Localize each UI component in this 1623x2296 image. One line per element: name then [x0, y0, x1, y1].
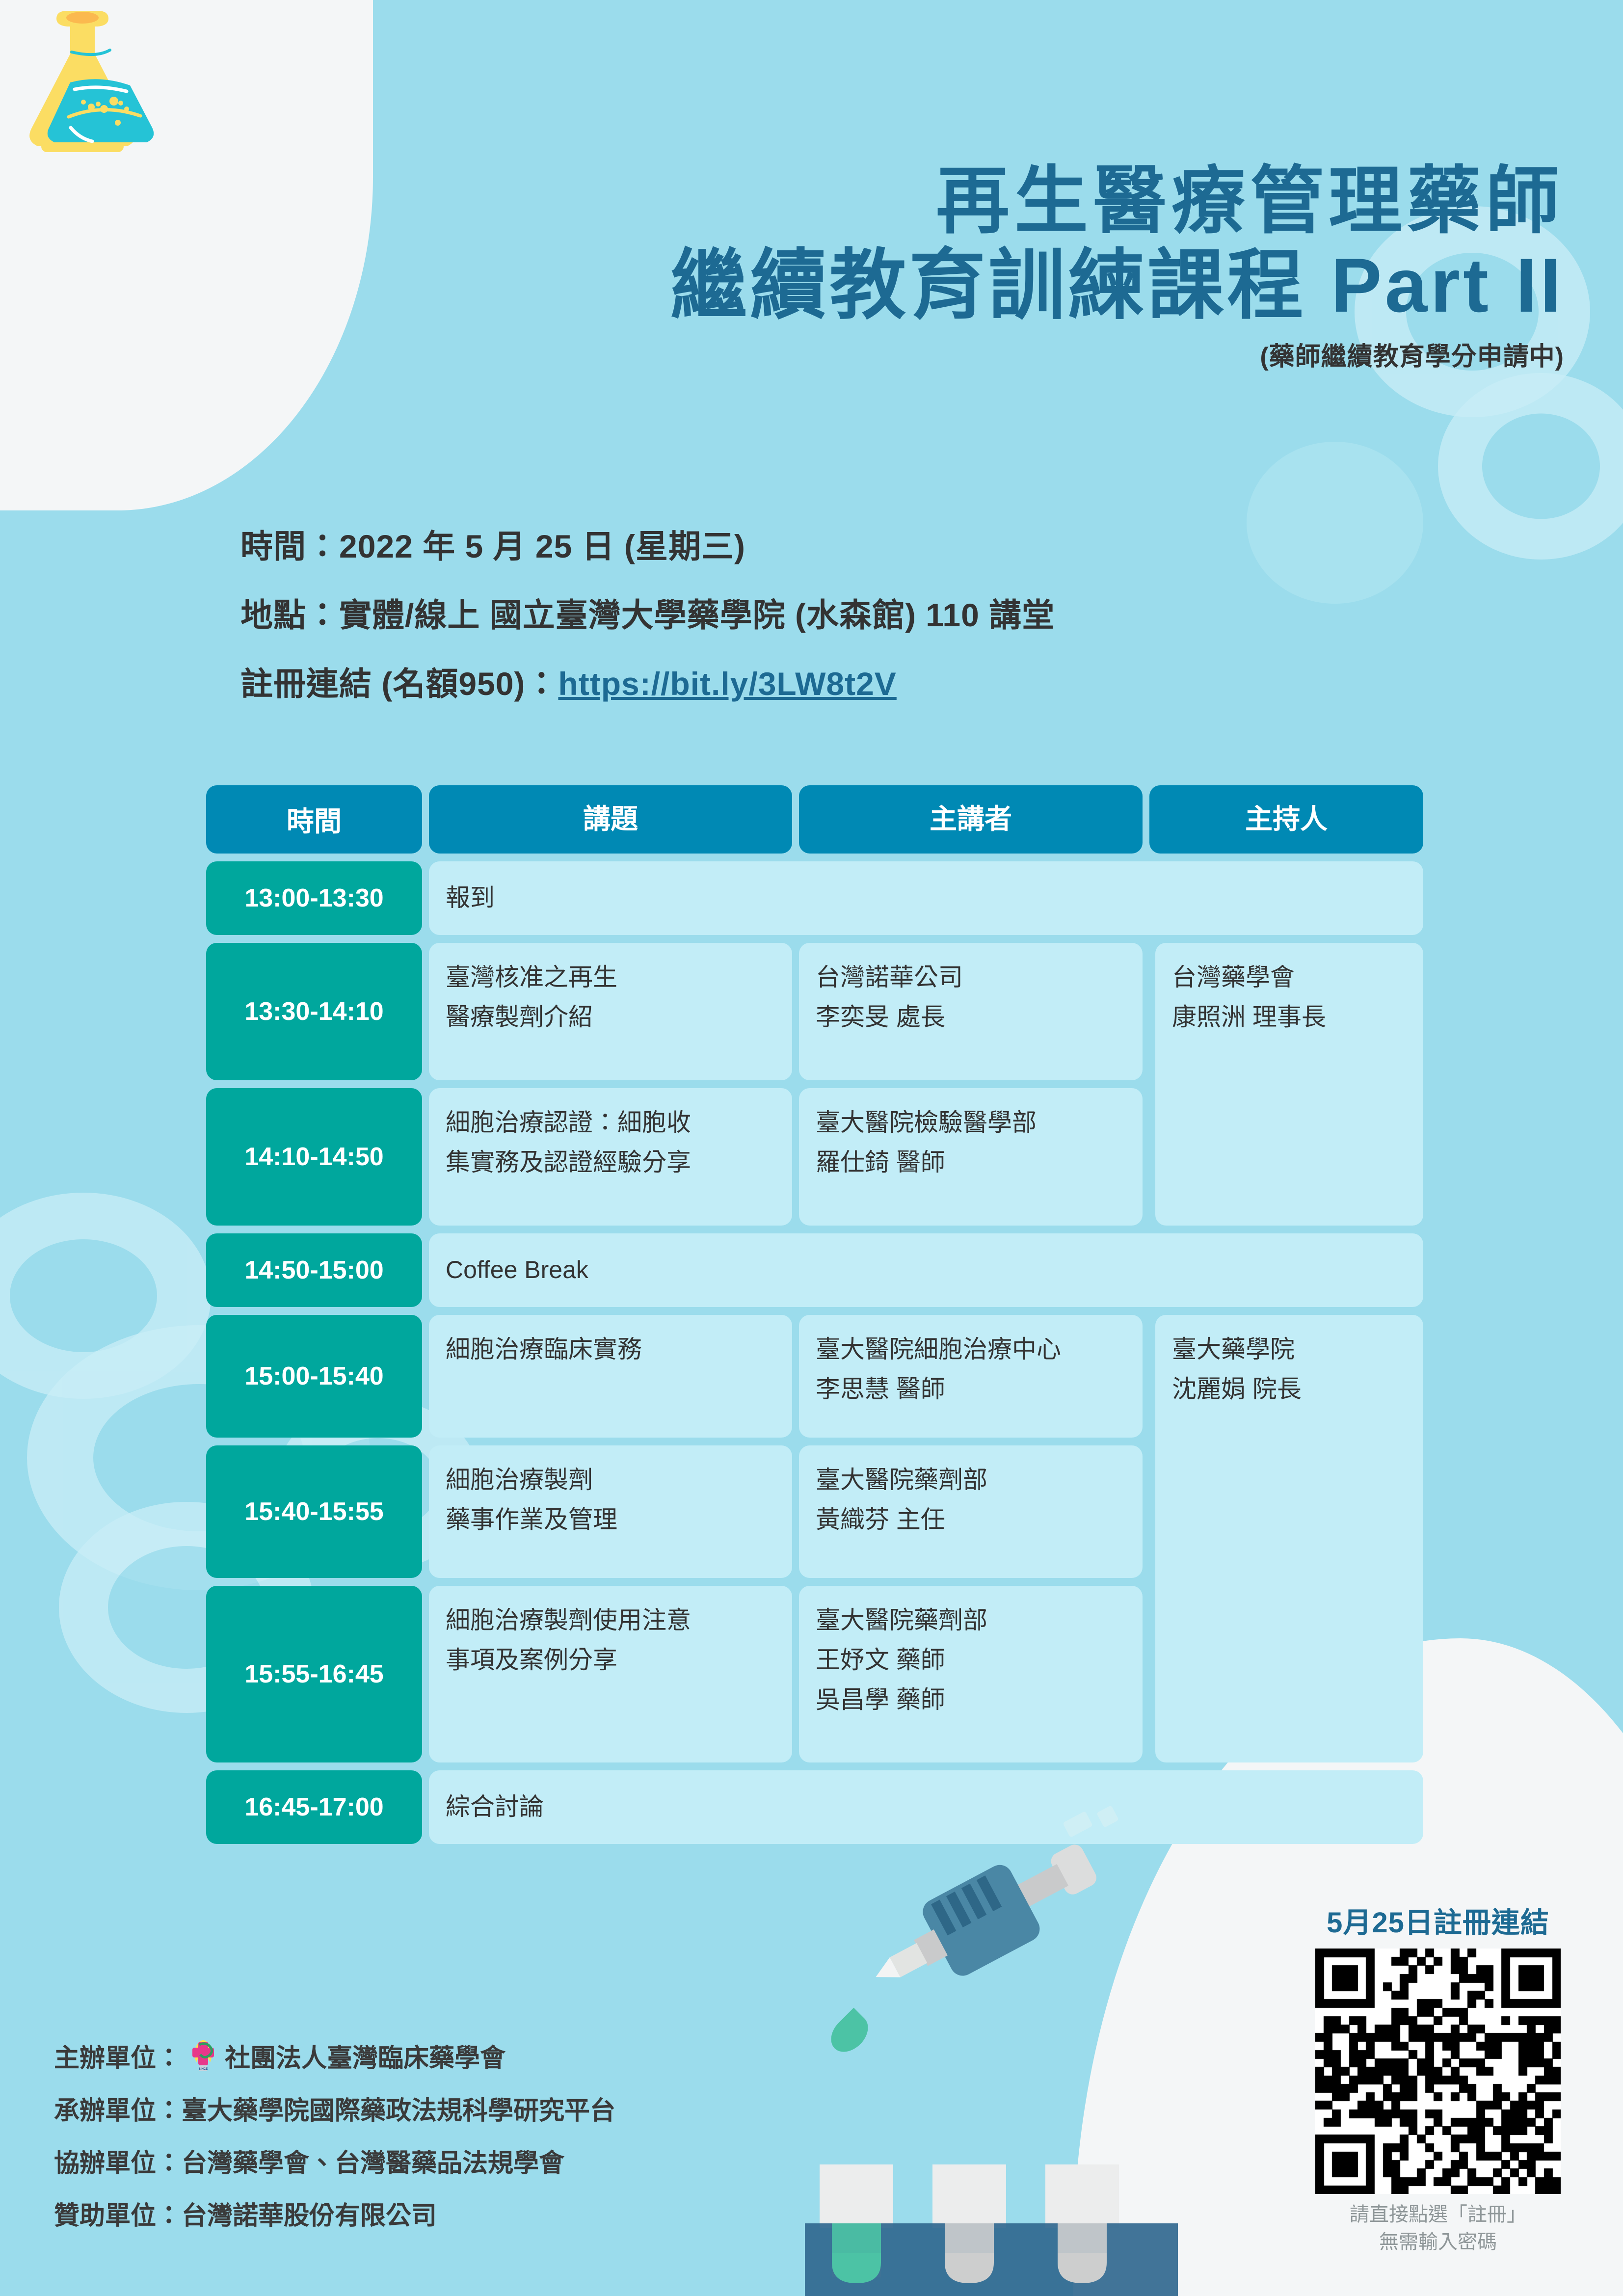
svg-text:SINCE: SINCE	[199, 2068, 208, 2071]
registration-link[interactable]: https://bit.ly/3LW8t2V	[558, 666, 896, 702]
qr-title: 5月25日註冊連結	[1296, 1899, 1580, 1941]
qr-note-line2: 無需輸入密碼	[1296, 2228, 1580, 2256]
poster-canvas: 再生醫療管理藥師 繼續教育訓練課程 Part II (藥師繼續教育學分申請中) …	[0, 0, 1623, 2296]
row-time: 15:00-15:40	[206, 1315, 422, 1438]
row-speaker: 臺大醫院細胞治療中心 李思慧 醫師	[799, 1315, 1143, 1438]
organizer-row-coordinator: 承辦單位： 臺大藥學院國際藥政法規科學研究平台	[54, 2090, 888, 2127]
table-row: 15:40-15:55 細胞治療製劑 藥事作業及管理 臺大醫院藥劑部 黃織芬 主…	[206, 1445, 1148, 1578]
row-time: 15:40-15:55	[206, 1445, 422, 1578]
row-topic: 細胞治療認證：細胞收 集實務及認證經驗分享	[429, 1088, 792, 1226]
row-time: 13:30-14:10	[206, 943, 422, 1080]
column-header-time: 時間	[206, 785, 422, 854]
column-header-topic: 講題	[429, 785, 792, 854]
row-speaker: 台灣諾華公司 李奕旻 處長	[799, 943, 1143, 1080]
row-time: 14:10-14:50	[206, 1088, 422, 1226]
row-topic: 細胞治療製劑使用注意 事項及案例分享	[429, 1586, 792, 1762]
schedule-group-b: 15:00-15:40 細胞治療臨床實務 臺大醫院細胞治療中心 李思慧 醫師 1…	[206, 1315, 1423, 1762]
organizer-label: 主辦單位：	[54, 2037, 182, 2074]
table-row: 13:30-14:10 臺灣核准之再生 醫療製劑介紹 台灣諾華公司 李奕旻 處長	[206, 943, 1148, 1080]
row-topic: 臺灣核准之再生 醫療製劑介紹	[429, 943, 792, 1080]
row-time: 14:50-15:00	[206, 1233, 422, 1307]
organizer-label: 承辦單位：	[54, 2090, 182, 2127]
table-row: 16:45-17:00 綜合討論	[206, 1770, 1423, 1844]
page-subtitle: (藥師繼續教育學分申請中)	[0, 336, 1564, 373]
organizer-row-cohost: 協辦單位： 台灣藥學會、台灣醫藥品法規學會	[54, 2142, 888, 2179]
qr-registration-block: 5月25日註冊連結 請直接點選「註冊」 無需輸入密碼	[1296, 1899, 1580, 2256]
table-row: 14:10-14:50 細胞治療認證：細胞收 集實務及認證經驗分享 臺大醫院檢驗…	[206, 1088, 1148, 1226]
event-venue-value: 實體/線上 國立臺灣大學藥學院 (水森館) 110 講堂	[339, 597, 1055, 633]
page-title-line2: 繼續教育訓練課程 Part II	[0, 243, 1564, 329]
organizer-row-host: 主辦單位： SINCE 社團法人臺灣臨床藥學會	[54, 2037, 888, 2074]
registration-label: 註冊連結 (名額950)：	[240, 666, 558, 702]
pharmacy-association-logo: SINCE	[185, 2037, 222, 2074]
organizer-value: 台灣諾華股份有限公司	[182, 2195, 437, 2232]
row-host: 台灣藥學會 康照洲 理事長	[1155, 943, 1423, 1226]
schedule-group-a: 13:30-14:10 臺灣核准之再生 醫療製劑介紹 台灣諾華公司 李奕旻 處長…	[206, 943, 1423, 1226]
row-time: 16:45-17:00	[206, 1770, 422, 1844]
row-topic: 細胞治療製劑 藥事作業及管理	[429, 1445, 792, 1578]
row-host: 臺大藥學院 沈麗娟 院長	[1155, 1315, 1423, 1762]
row-time: 15:55-16:45	[206, 1586, 422, 1762]
organizer-value: 社團法人臺灣臨床藥學會	[225, 2037, 506, 2074]
event-date-value: 2022 年 5 月 25 日 (星期三)	[339, 528, 745, 564]
column-header-host: 主持人	[1149, 785, 1423, 854]
organizer-label: 協辦單位：	[54, 2142, 182, 2179]
row-topic: Coffee Break	[429, 1233, 1423, 1307]
qr-code-icon[interactable]	[1315, 1949, 1561, 2194]
event-date-line: 時間：2022 年 5 月 25 日 (星期三)	[240, 520, 1517, 567]
organizer-value: 台灣藥學會、台灣醫藥品法規學會	[182, 2142, 564, 2179]
table-row: 15:55-16:45 細胞治療製劑使用注意 事項及案例分享 臺大醫院藥劑部 王…	[206, 1586, 1148, 1762]
row-speaker: 臺大醫院檢驗醫學部 羅仕錡 醫師	[799, 1088, 1143, 1226]
qr-note-line1: 請直接點選「註冊」	[1296, 2201, 1580, 2228]
table-row: 14:50-15:00 Coffee Break	[206, 1233, 1423, 1307]
schedule-table: 時間 講題 主講者 主持人 13:00-13:30 報到 13:30-14:10…	[206, 785, 1423, 1852]
row-time: 13:00-13:30	[206, 861, 422, 935]
event-date-label: 時間：	[240, 528, 339, 564]
organizer-label: 贊助單位：	[54, 2195, 182, 2232]
row-topic: 細胞治療臨床實務	[429, 1315, 792, 1438]
erlenmeyer-flask-icon	[20, 5, 182, 162]
organizer-row-sponsor: 贊助單位： 台灣諾華股份有限公司	[54, 2195, 888, 2232]
row-topic: 報到	[429, 861, 1423, 935]
table-header-row: 時間 講題 主講者 主持人	[206, 785, 1423, 854]
row-speaker: 臺大醫院藥劑部 黃織芬 主任	[799, 1445, 1143, 1578]
event-info: 時間：2022 年 5 月 25 日 (星期三) 地點：實體/線上 國立臺灣大學…	[240, 520, 1517, 726]
organizer-value: 臺大藥學院國際藥政法規科學研究平台	[182, 2090, 615, 2127]
pipette-icon	[834, 1806, 1139, 2012]
page-title-line1: 再生醫療管理藥師	[0, 162, 1564, 240]
table-row: 15:00-15:40 細胞治療臨床實務 臺大醫院細胞治療中心 李思慧 醫師	[206, 1315, 1148, 1438]
event-venue-line: 地點：實體/線上 國立臺灣大學藥學院 (水森館) 110 講堂	[240, 589, 1517, 636]
row-speaker: 臺大醫院藥劑部 王妤文 藥師 吳昌學 藥師	[799, 1586, 1143, 1762]
event-venue-label: 地點：	[240, 597, 339, 633]
table-row: 13:00-13:30 報到	[206, 861, 1423, 935]
organizer-list: 主辦單位： SINCE 社團法人臺灣臨床藥學會 承辦單位： 臺大藥學院國際藥政法…	[54, 2037, 888, 2247]
column-header-speaker: 主講者	[799, 785, 1143, 854]
title-block: 再生醫療管理藥師 繼續教育訓練課程 Part II (藥師繼續教育學分申請中)	[0, 162, 1564, 373]
registration-line: 註冊連結 (名額950)：https://bit.ly/3LW8t2V	[240, 658, 1517, 705]
